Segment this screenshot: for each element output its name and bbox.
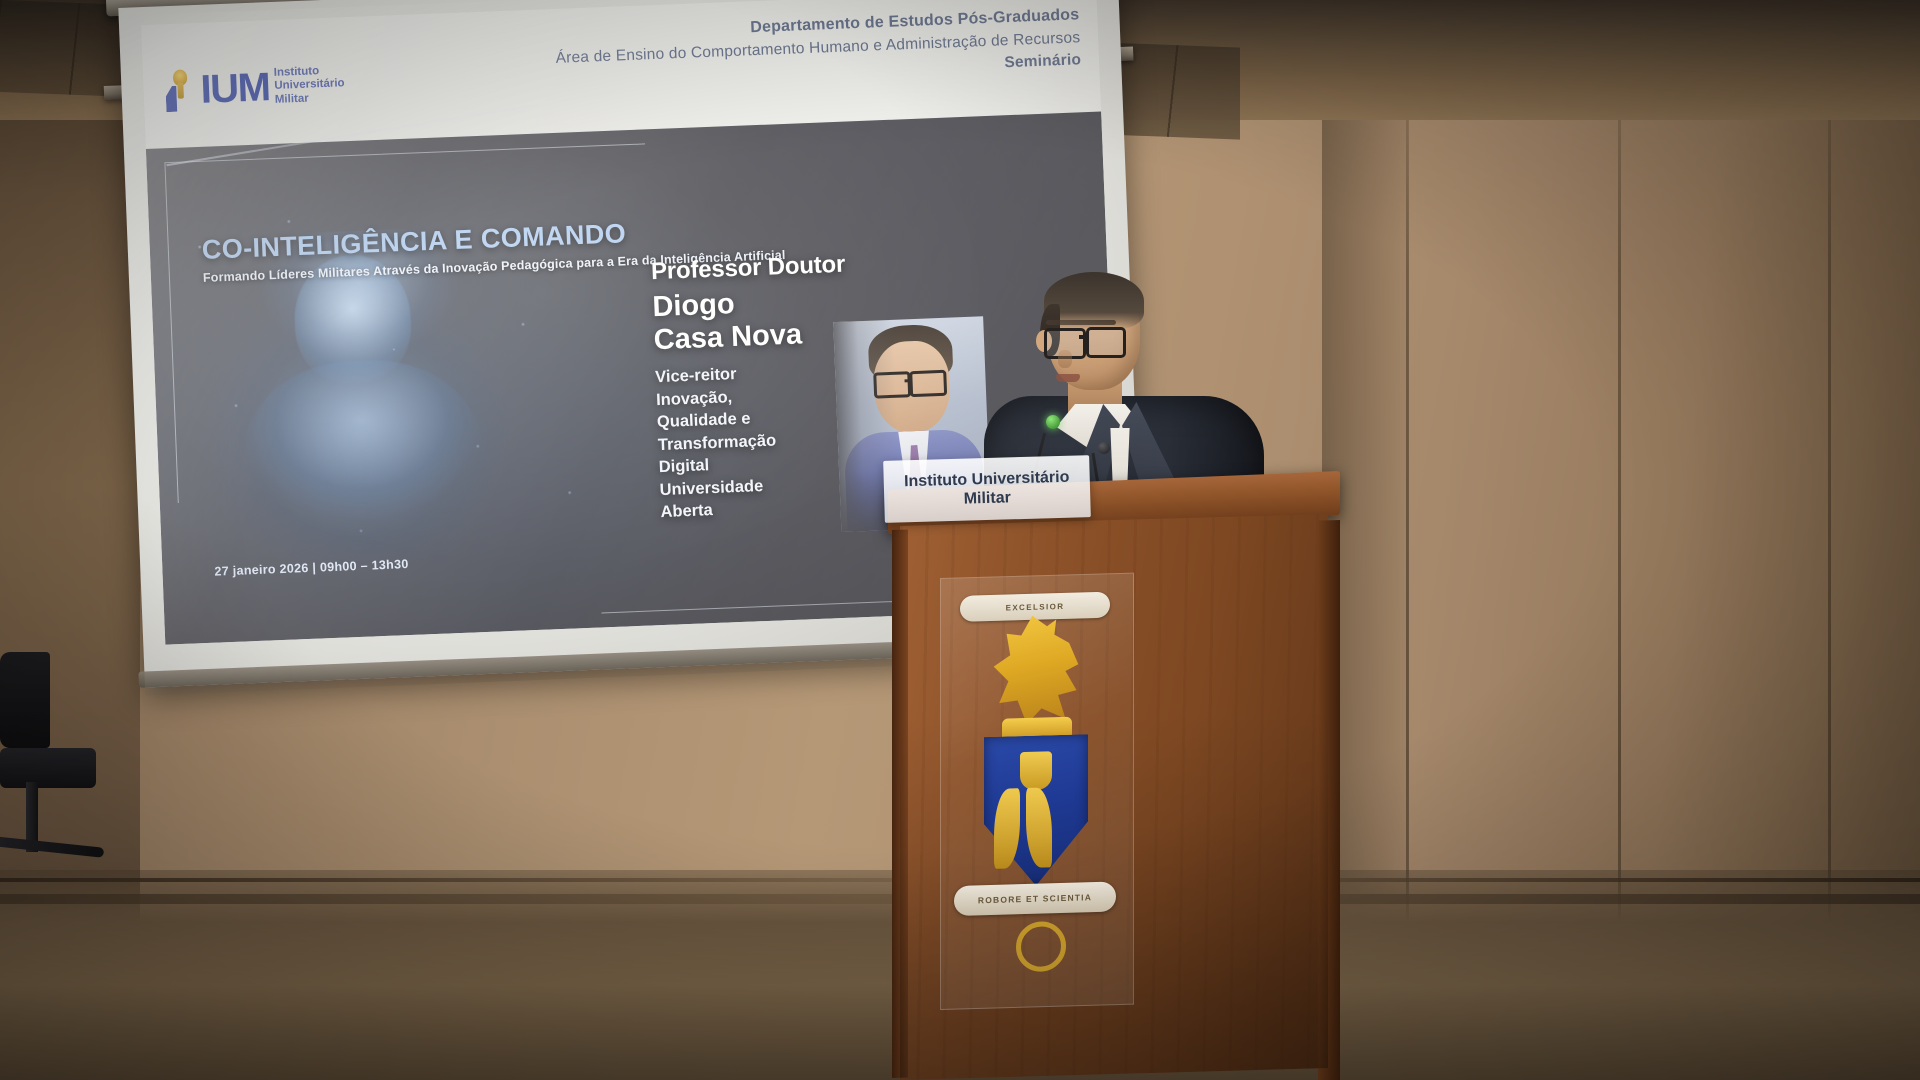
chair-backrest [0,652,50,748]
chair-seat [0,748,96,788]
screenshot-root: Departamento de Estudos Pós-Graduados Ár… [0,0,1920,1080]
crest-lamp-icon [1020,751,1052,790]
speaker-eyebrow [1046,320,1116,325]
crest-top-scroll: EXCELSIOR [960,592,1110,622]
crest-motto-bottom: ROBORE ET SCIENTIA [954,881,1116,916]
speaker-glasses-bridge [1079,335,1088,339]
lectern-podium: EXCELSIOR ROBORE ET SCIENTIA Instituto U… [888,490,1340,1080]
microphone-led-indicator [1046,415,1060,429]
chair-base [0,836,104,857]
crest-ring-icon [1016,921,1066,972]
logo-line-militar: Militar [275,91,346,107]
logo-line-universitario: Universitário [274,78,345,94]
podium-nameplate: Instituto Universitário Militar [883,455,1091,523]
speaker-mouth [1056,374,1080,382]
speaker-nose [1058,350,1072,368]
ium-logo: IUM Instituto Universitário Militar [165,63,346,112]
ium-coat-of-arms: EXCELSIOR ROBORE ET SCIENTIA [954,585,1116,990]
microphone-capsule-right [1098,442,1110,454]
nameplate-line-2: Militar [963,488,1011,508]
ium-torch-icon [165,69,197,112]
speaker-glasses-right-icon [1086,327,1126,358]
ium-wordmark: IUM [200,70,270,107]
nameplate-line-1: Instituto Universitário [904,468,1070,492]
slide-header-text: Departamento de Estudos Pós-Graduados Ár… [554,4,1081,91]
crest-motto-top: EXCELSIOR [960,592,1110,622]
crest-griffin-icon [990,614,1082,725]
crest-bottom-scroll: ROBORE ET SCIENTIA [954,881,1116,916]
ium-logo-subtext: Instituto Universitário Militar [274,64,346,107]
torch-flame-icon [173,69,188,86]
office-chair [0,652,118,892]
